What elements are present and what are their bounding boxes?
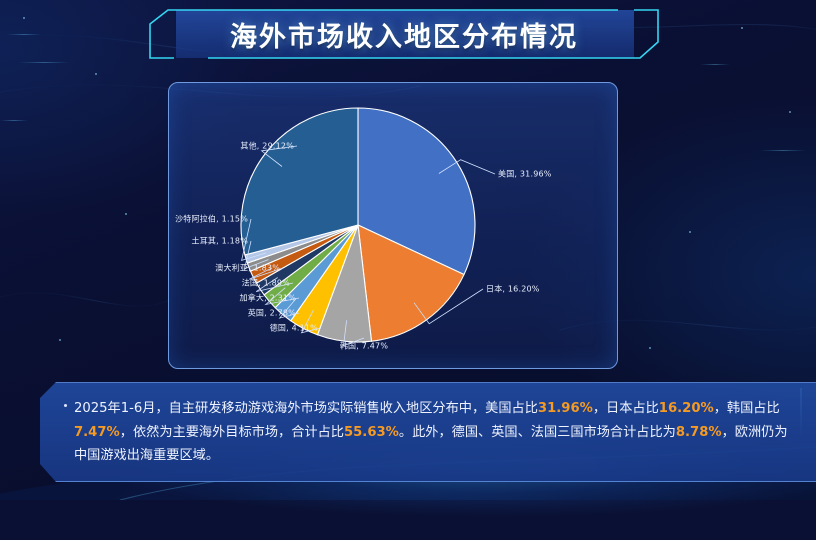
highlight-value: 7.47% <box>74 425 120 440</box>
highlight-value: 31.96% <box>538 401 593 416</box>
pie-slice-label: 美国, 31.96% <box>498 169 552 180</box>
pie-slice-label: 土耳其, 1.18% <box>192 236 249 247</box>
pie-slice-label: 其他, 29.12% <box>240 141 294 152</box>
pie-chart-svg <box>168 82 616 367</box>
highlight-value: 55.63% <box>344 425 399 440</box>
summary-note: 2025年1-6月，自主研发移动游戏海外市场实际销售收入地区分布中，美国占比31… <box>58 397 800 468</box>
pie-slice-label: 英国, 2.78% <box>248 308 296 319</box>
pie-slice-label: 日本, 16.20% <box>486 284 540 295</box>
highlight-value: 16.20% <box>659 401 714 416</box>
pie-slice-label: 加拿大, 2.31% <box>240 293 297 304</box>
note-segment: 2025年1-6月，自主研发移动游戏海外市场实际销售收入地区分布中，美国占比 <box>74 401 538 416</box>
note-segment: ，韩国占比 <box>714 401 780 416</box>
page-title: 海外市场收入地区分布情况 <box>148 8 660 60</box>
summary-note-text: 2025年1-6月，自主研发移动游戏海外市场实际销售收入地区分布中，美国占比31… <box>58 397 800 468</box>
summary-note-card: 2025年1-6月，自主研发移动游戏海外市场实际销售收入地区分布中，美国占比31… <box>40 382 816 482</box>
page-title-text: 海外市场收入地区分布情况 <box>148 8 660 60</box>
note-segment: 。此外，德国、英国、法国三国市场合计占比为 <box>399 425 676 440</box>
pie-chart: 美国, 31.96%日本, 16.20%韩国, 7.47%德国, 4.11%英国… <box>168 82 616 367</box>
note-segment: ，日本占比 <box>593 401 659 416</box>
pie-slice-label: 韩国, 7.47% <box>340 341 388 352</box>
highlight-value: 8.78% <box>676 425 722 440</box>
note-segment: ，依然为主要海外目标市场，合计占比 <box>120 425 344 440</box>
pie-slice-label: 沙特阿拉伯, 1.15% <box>175 214 248 225</box>
pie-slice-label: 法国, 1.89% <box>242 278 290 289</box>
pie-slice-label: 澳大利亚, 1.83% <box>215 263 280 274</box>
pie-slice-label: 德国, 4.11% <box>270 323 318 334</box>
